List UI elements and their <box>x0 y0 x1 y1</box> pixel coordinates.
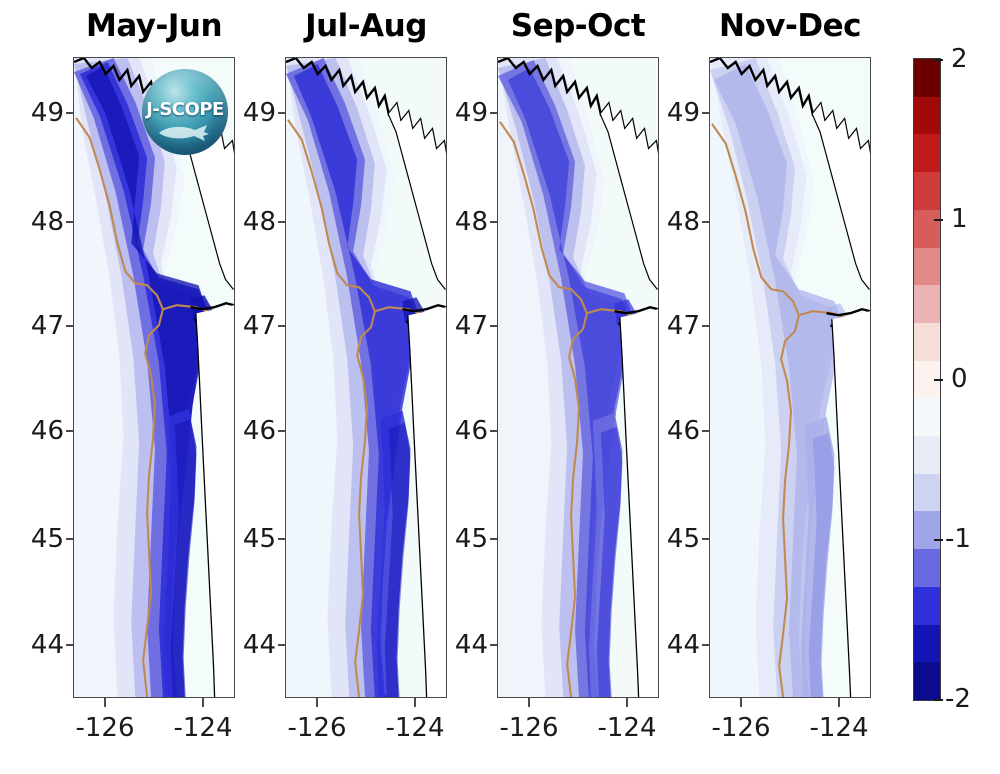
panel-title-jul-aug: Jul-Aug <box>285 8 447 44</box>
ytick-mark-p3-45 <box>490 538 498 540</box>
xtick-label-p1-126: -126 <box>60 713 150 743</box>
cbar-band-16 <box>914 662 940 700</box>
xtick-label-p4-126: -126 <box>696 713 786 743</box>
ytick-mark-p3-48 <box>490 221 498 223</box>
cbar-band-1 <box>914 97 940 135</box>
cbar-band-10 <box>914 436 940 474</box>
xtick-mark-p1-126 <box>104 698 106 707</box>
ytick-mark-p2-49 <box>278 112 286 114</box>
ytick-label-p2-48: 48 <box>230 207 276 237</box>
ytick-label-p2-45: 45 <box>230 524 276 554</box>
cbar-tick-0 <box>934 379 943 381</box>
cbar-label-m2: -2 <box>945 684 971 714</box>
ytick-label-p4-47: 47 <box>654 311 700 341</box>
panel-title-may-jun: May-Jun <box>73 8 235 44</box>
map-field-sep-oct <box>498 58 658 697</box>
xtick-label-p1-124: -124 <box>158 713 248 743</box>
cbar-band-11 <box>914 474 940 512</box>
ytick-mark-p4-46 <box>702 430 710 432</box>
xtick-label-p3-126: -126 <box>484 713 574 743</box>
xtick-mark-p3-126 <box>528 698 530 707</box>
cbar-band-3 <box>914 172 940 210</box>
xtick-mark-p4-126 <box>740 698 742 707</box>
ytick-label-p3-46: 46 <box>442 416 488 446</box>
ytick-mark-p4-48 <box>702 221 710 223</box>
ytick-mark-p2-47 <box>278 325 286 327</box>
ytick-label-p3-45: 45 <box>442 524 488 554</box>
ytick-label-p2-46: 46 <box>230 416 276 446</box>
j-scope-logo-text: J-SCOPE <box>142 99 228 120</box>
ytick-label-p1-48: 48 <box>18 207 64 237</box>
ytick-mark-p3-49 <box>490 112 498 114</box>
ytick-label-p1-47: 47 <box>18 311 64 341</box>
cbar-band-13 <box>914 549 940 587</box>
xtick-mark-p4-124 <box>838 698 840 707</box>
ytick-mark-p1-46 <box>66 430 74 432</box>
panel-title-sep-oct: Sep-Oct <box>497 8 659 44</box>
fish-icon <box>155 123 215 143</box>
panel-nov-dec[interactable] <box>709 57 871 698</box>
xtick-mark-p1-124 <box>202 698 204 707</box>
ytick-mark-p4-44 <box>702 644 710 646</box>
cbar-band-2 <box>914 134 940 172</box>
panel-sep-oct[interactable] <box>497 57 659 698</box>
ytick-label-p3-47: 47 <box>442 311 488 341</box>
xtick-mark-p2-126 <box>316 698 318 707</box>
ytick-label-p4-46: 46 <box>654 416 700 446</box>
ytick-mark-p4-49 <box>702 112 710 114</box>
ytick-label-p2-47: 47 <box>230 311 276 341</box>
cbar-label-0: 0 <box>951 364 968 394</box>
xtick-label-p4-124: -124 <box>794 713 884 743</box>
cbar-label-1: 1 <box>951 204 968 234</box>
ytick-mark-p2-44 <box>278 644 286 646</box>
ytick-label-p2-44: 44 <box>230 630 276 660</box>
cbar-band-4 <box>914 210 940 248</box>
ytick-label-p3-48: 48 <box>442 207 488 237</box>
figure-canvas: May-Jun Jul-Aug Sep-Oct Nov-Dec <box>0 0 1000 774</box>
ytick-label-p4-49: 49 <box>654 98 700 128</box>
map-field-may-jun <box>74 58 234 697</box>
map-field-nov-dec <box>710 58 870 697</box>
ytick-label-p1-44: 44 <box>18 630 64 660</box>
cbar-band-12 <box>914 511 940 549</box>
ytick-mark-p1-48 <box>66 221 74 223</box>
cbar-tick-2 <box>934 59 943 61</box>
ytick-label-p2-49: 49 <box>230 98 276 128</box>
ytick-mark-p1-47 <box>66 325 74 327</box>
xtick-label-p3-124: -124 <box>582 713 672 743</box>
cbar-tick-m2 <box>934 699 943 701</box>
ytick-mark-p3-47 <box>490 325 498 327</box>
ytick-label-p1-46: 46 <box>18 416 64 446</box>
panel-jul-aug[interactable] <box>285 57 447 698</box>
map-field-jul-aug <box>286 58 446 697</box>
cbar-label-2: 2 <box>951 44 968 74</box>
cbar-label-m1: -1 <box>945 524 971 554</box>
ytick-mark-p4-45 <box>702 538 710 540</box>
cbar-band-14 <box>914 587 940 625</box>
ytick-mark-p3-44 <box>490 644 498 646</box>
ytick-mark-p1-44 <box>66 644 74 646</box>
cbar-band-6 <box>914 285 940 323</box>
cbar-band-7 <box>914 323 940 361</box>
cbar-tick-m1 <box>934 539 943 541</box>
panel-may-jun[interactable]: J-SCOPE <box>73 57 235 698</box>
panel-title-nov-dec: Nov-Dec <box>709 8 871 44</box>
ytick-mark-p3-46 <box>490 430 498 432</box>
j-scope-logo: J-SCOPE <box>142 69 228 155</box>
xtick-mark-p3-124 <box>626 698 628 707</box>
ytick-label-p3-49: 49 <box>442 98 488 128</box>
ytick-mark-p2-48 <box>278 221 286 223</box>
ytick-mark-p1-49 <box>66 112 74 114</box>
xtick-label-p2-124: -124 <box>370 713 460 743</box>
ytick-label-p4-48: 48 <box>654 207 700 237</box>
ytick-mark-p2-45 <box>278 538 286 540</box>
xtick-label-p2-126: -126 <box>272 713 362 743</box>
ytick-label-p1-45: 45 <box>18 524 64 554</box>
cbar-tick-1 <box>934 219 943 221</box>
cbar-band-5 <box>914 248 940 286</box>
ytick-label-p4-44: 44 <box>654 630 700 660</box>
ytick-mark-p1-45 <box>66 538 74 540</box>
ytick-label-p3-44: 44 <box>442 630 488 660</box>
cbar-band-15 <box>914 625 940 663</box>
cbar-band-9 <box>914 398 940 436</box>
ytick-label-p4-45: 45 <box>654 524 700 554</box>
cbar-band-0 <box>914 59 940 97</box>
ytick-mark-p2-46 <box>278 430 286 432</box>
ytick-mark-p4-47 <box>702 325 710 327</box>
ytick-label-p1-49: 49 <box>18 98 64 128</box>
xtick-mark-p2-124 <box>414 698 416 707</box>
